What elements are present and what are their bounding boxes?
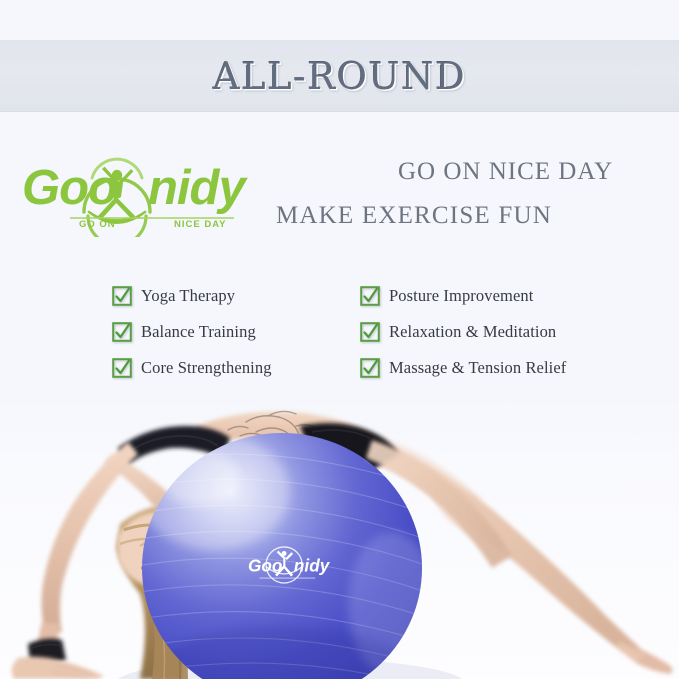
tagline-block: GO ON NICE DAY MAKE EXERCISE FUN — [262, 152, 674, 242]
tagline-secondary: MAKE EXERCISE FUN — [276, 202, 552, 230]
brand-logo: Goo nidy GO ON NICE DAY — [22, 142, 262, 237]
feature-label: Yoga Therapy — [141, 286, 235, 306]
product-photo: Goo nidy — [0, 396, 679, 679]
checkbox-checked-icon — [112, 322, 132, 342]
brand-logo-graphic: Goo nidy GO ON NICE DAY — [22, 142, 262, 237]
logo-subtext-right: NICE DAY — [174, 219, 227, 230]
feature-item-core-strengthening: Core Strengthening — [112, 350, 360, 386]
feature-label: Core Strengthening — [141, 358, 272, 378]
feature-label: Massage & Tension Relief — [389, 358, 566, 378]
page-title: ALL-ROUND — [213, 55, 466, 98]
feature-item-yoga-therapy: Yoga Therapy — [112, 278, 360, 314]
checkbox-checked-icon — [360, 322, 380, 342]
ball-logo-nidy: nidy — [294, 556, 331, 576]
feature-item-massage-tension-relief: Massage & Tension Relief — [360, 350, 652, 386]
feature-list: Yoga Therapy Posture Improvement Balance… — [112, 278, 652, 388]
feature-label: Relaxation & Meditation — [389, 322, 556, 342]
product-photo-illustration: Goo nidy — [0, 396, 679, 679]
checkbox-checked-icon — [112, 358, 132, 378]
feature-item-relaxation-meditation: Relaxation & Meditation — [360, 314, 652, 350]
checkbox-checked-icon — [360, 358, 380, 378]
feature-label: Balance Training — [141, 322, 256, 342]
tagline-primary: GO ON NICE DAY — [398, 158, 613, 186]
logo-text-nidy: nidy — [148, 161, 248, 215]
feature-label: Posture Improvement — [389, 286, 533, 306]
checkbox-checked-icon — [360, 286, 380, 306]
product-infographic: ALL-ROUND Goo — [0, 0, 679, 679]
feature-item-balance-training: Balance Training — [112, 314, 360, 350]
logo-subtext-left: GO ON — [79, 219, 116, 230]
checkbox-checked-icon — [112, 286, 132, 306]
feature-item-posture-improvement: Posture Improvement — [360, 278, 652, 314]
header-banner: ALL-ROUND — [0, 40, 679, 112]
